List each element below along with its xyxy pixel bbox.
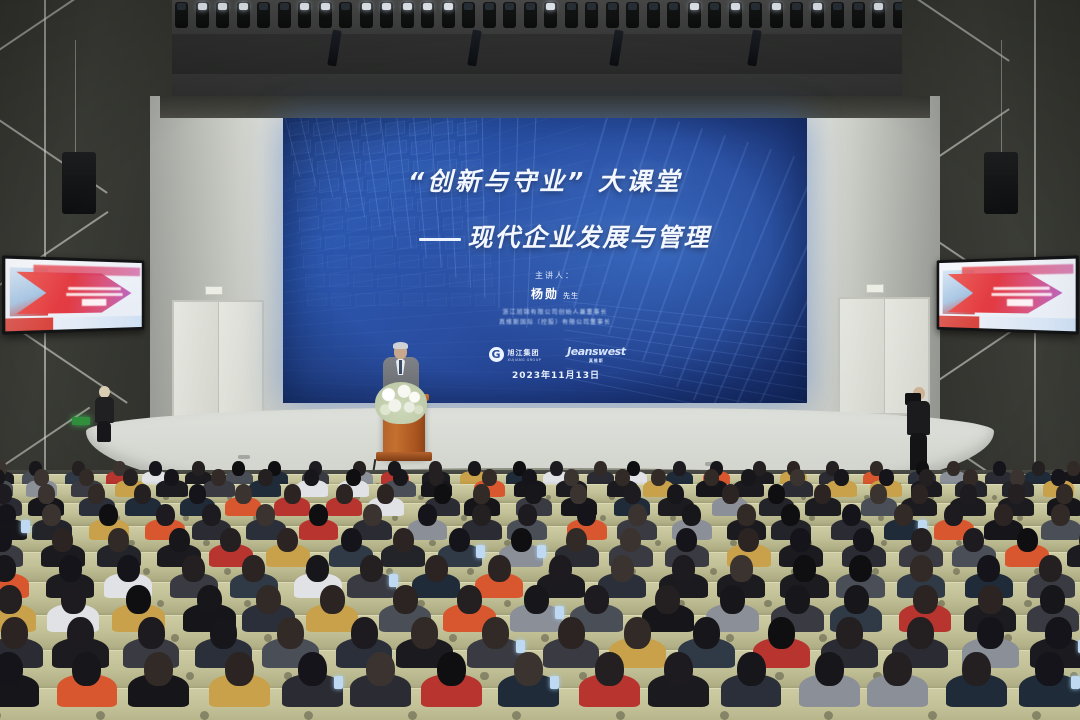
seat-notch [183, 515, 189, 521]
audience-member-head [393, 585, 418, 614]
floor-vent [238, 455, 250, 459]
stage-spotlight-icon [790, 2, 803, 28]
stage-spotlight-icon [421, 2, 434, 28]
audience-member-head [434, 484, 451, 504]
door-leaf [174, 302, 218, 416]
audience-member-head [911, 484, 928, 504]
seat-notch [96, 711, 105, 720]
audience-member-head [235, 484, 252, 504]
audience-member-head [907, 617, 934, 649]
audience-member-head [346, 469, 361, 486]
smartphone-screen [550, 676, 559, 689]
stage-spotlight-icon [257, 2, 270, 28]
audience-member-head [853, 528, 874, 553]
audience-member-head [913, 585, 938, 614]
audience-member-head [336, 484, 353, 504]
seat-notch [467, 568, 474, 575]
door-sign-left [205, 286, 223, 295]
audience-member-head [836, 617, 863, 649]
seat-notch [1024, 600, 1032, 608]
audience-member-head [38, 484, 55, 504]
jeanswest-logo-cn: 真维斯 [567, 358, 625, 364]
audience-member-head [488, 555, 511, 582]
audience-member-head [815, 652, 844, 686]
audience-area [0, 470, 1080, 720]
seat-notch [171, 634, 179, 642]
seat-notch [304, 711, 313, 720]
audience-member-head [61, 585, 86, 614]
slide-date: 2023年11月13日 [283, 368, 807, 381]
audience-member-head [457, 585, 482, 614]
seat-notch [200, 711, 209, 720]
operator-body [907, 401, 930, 435]
stage-spotlight-icon [626, 2, 639, 28]
stage-spotlight-icon [811, 2, 824, 28]
audience-member-head [628, 504, 647, 526]
jeanswest-logo: Jeanswest真维斯 [567, 345, 625, 364]
lighting-truss [128, 0, 964, 34]
slide-subtitle: 现代企业发展与管理 [283, 218, 807, 254]
audience-member-head [304, 469, 319, 486]
audience-member-head [182, 555, 205, 582]
audience-member-head [910, 555, 933, 582]
wall-line [884, 0, 1009, 62]
audience-member-head [1, 617, 28, 649]
audience-member-head [1056, 484, 1073, 504]
audience-member-head [256, 585, 281, 614]
audience-member-head [676, 528, 697, 553]
audience-member-head [944, 504, 963, 526]
seat-notch [824, 711, 833, 720]
audience-member-head [164, 469, 179, 486]
stage-spotlight-icon [565, 2, 578, 28]
audience-member-head [672, 555, 695, 582]
audience-member-head [849, 555, 872, 582]
monitor-glare [939, 259, 1075, 332]
speaker-name-text: 杨勋 [531, 287, 559, 301]
stage-spotlight-icon [524, 2, 537, 28]
xujiang-logo-cn: 旭江集团 [508, 349, 540, 357]
seat-notch [143, 568, 150, 575]
audience-member-head [883, 652, 912, 686]
speaker-org: 浙江旭锦有限公司创始人兼董事长 真维斯国际（控股）有限公司董事长 [303, 308, 807, 328]
wall-line-vertical [1034, 0, 1036, 500]
audience-member-head [192, 461, 205, 476]
stage-spotlight-icon [770, 2, 783, 28]
seat-notch [480, 672, 489, 681]
audience-member-head [781, 504, 800, 526]
audience-member-head [0, 504, 16, 526]
stage-spotlight-icon [688, 2, 701, 28]
stage-spotlight-icon [667, 2, 680, 28]
led-presentation-screen: “创新与守业” 大课堂 现代企业发展与管理 主讲人： 杨勋先生 浙江旭锦有限公司… [283, 118, 807, 403]
stage-spotlight-icon [872, 2, 885, 28]
audience-member-head [1032, 461, 1045, 476]
stage-spotlight-icon [360, 2, 373, 28]
audience-member-head [1017, 528, 1038, 553]
audience-member-head [393, 528, 414, 553]
audience-member-head [737, 504, 756, 526]
audience-member-head [911, 528, 932, 553]
seat-notch [600, 515, 606, 521]
audience-member-head [722, 484, 739, 504]
stage-spotlight-icon [380, 2, 393, 28]
audience-member-head [682, 504, 701, 526]
stage-spotlight-icon [339, 2, 352, 28]
stage-spotlight-icon [196, 2, 209, 28]
audience-member-head [225, 652, 254, 686]
audience-member-head [844, 585, 869, 614]
left-side-monitor [2, 255, 144, 334]
stage-spotlight-icon [298, 2, 311, 28]
stage-spotlight-icon [503, 2, 516, 28]
xujiang-logo-mark: G [489, 347, 504, 362]
smartphone-screen [21, 520, 30, 533]
audience-member-head [220, 528, 241, 553]
audience-member-head [594, 461, 607, 476]
audience-member-head [790, 528, 811, 553]
camera-operator-right [905, 385, 933, 473]
audience-member-head [0, 585, 22, 614]
audience-member-head [667, 484, 684, 504]
stage-spotlight-icon [585, 2, 598, 28]
stage-spotlight-icon [483, 2, 496, 28]
smartphone-screen [537, 545, 546, 558]
speaker-org-line-2: 真维斯国际（控股）有限公司董事长 [303, 318, 807, 328]
audience-member-head [570, 484, 587, 504]
stage-spotlight-icon [729, 2, 742, 28]
audience-member-head [947, 461, 960, 476]
speaker-name-suffix: 先生 [563, 292, 579, 300]
audience-member-head [232, 461, 245, 476]
stage-spotlight-icon [647, 2, 660, 28]
seat-notch [408, 711, 417, 720]
seat-notch [392, 515, 398, 521]
audience-member-head [52, 528, 73, 553]
audience-member-head [126, 585, 151, 614]
seat-notch [881, 540, 888, 547]
audience-member-head [123, 469, 138, 486]
stage-door-left[interactable] [172, 300, 264, 418]
audience-member-head [584, 585, 609, 614]
audience-member-head [977, 617, 1004, 649]
stage-spotlight-icon [831, 2, 844, 28]
audience-member-head [320, 585, 345, 614]
audience-member-head [256, 504, 275, 526]
seat-notch [512, 711, 521, 720]
audience-member-head [624, 617, 651, 649]
audience-member-head [720, 585, 745, 614]
auditorium-photo: “创新与守业” 大课堂 现代企业发展与管理 主讲人： 杨勋先生 浙江旭锦有限公司… [0, 0, 1080, 720]
audience-member-head [738, 528, 759, 553]
audience-member-head [524, 585, 549, 614]
audience-member-head [67, 617, 94, 649]
seat-notch [157, 600, 165, 608]
monitor-glare [5, 259, 141, 332]
audience-member-head [144, 652, 173, 686]
audience-member-head [977, 555, 1000, 582]
audience-member-head [298, 652, 327, 686]
audience-member-head [425, 555, 448, 582]
seat-notch [764, 600, 772, 608]
slide-logo-row: G旭江集团XUJIANG GROUPJeanswest真维斯 [283, 344, 807, 364]
audience-member-head [411, 617, 438, 649]
exit-sign-icon [72, 417, 90, 425]
audience-member-head [620, 528, 641, 553]
standing-attendee-left [93, 386, 115, 442]
attendee-legs [97, 421, 111, 442]
seat-notch [819, 634, 827, 642]
audience-member-head [393, 469, 408, 486]
audience-member-head [472, 504, 491, 526]
audience-member-head [79, 469, 94, 486]
audience-member-head [0, 555, 16, 582]
audience-member-head [741, 469, 756, 486]
audience-member-head [1039, 555, 1062, 582]
audience-member-head [558, 617, 585, 649]
jeanswest-logo-en: Jeanswest [567, 345, 625, 358]
audience-member-head [277, 617, 304, 649]
speaker-wire-left [75, 40, 76, 158]
stage-spotlight-icon [401, 2, 414, 28]
audience-member-head [59, 555, 82, 582]
seat-notch [203, 540, 210, 547]
audience-member-head [704, 469, 719, 486]
stage-spotlight-icon [175, 2, 188, 28]
audience-member-head [42, 504, 61, 526]
audience-member-head [258, 469, 273, 486]
audience-member-head [1035, 652, 1064, 686]
audience-member-head [566, 528, 587, 553]
seat-notch [224, 568, 231, 575]
stage-spotlight-icon [278, 2, 291, 28]
seat-notch [616, 711, 625, 720]
seat-notch [775, 672, 784, 681]
stage-spotlight-icon [442, 2, 455, 28]
audience-member-head [99, 504, 118, 526]
audience-member-head [169, 528, 190, 553]
seat-notch [449, 634, 457, 642]
audience-member-head [549, 555, 572, 582]
slide-title: “创新与守业” 大课堂 [283, 162, 807, 198]
wall-line [0, 0, 108, 62]
door-sign-right [866, 284, 884, 293]
audience-member-head [737, 652, 766, 686]
smartphone-screen [334, 676, 343, 689]
podium-base [376, 452, 432, 461]
speaker-hair [393, 342, 408, 349]
audience-member-head [894, 504, 913, 526]
seat-notch [429, 540, 436, 547]
audience-member-head [785, 585, 810, 614]
audience-member-head [615, 469, 630, 486]
audience-member-head [793, 555, 816, 582]
audience-member-head [473, 484, 490, 504]
speaker-role-label: 主讲人： [303, 270, 807, 281]
audience-member-head [108, 528, 129, 553]
audience-member-head [418, 504, 437, 526]
xujiang-logo-text: 旭江集团XUJIANG GROUP [508, 348, 542, 362]
audience-member-head [156, 504, 175, 526]
audience-member-head [437, 652, 466, 686]
audience-member-head [768, 617, 795, 649]
seat-notch [992, 495, 998, 501]
audience-member-head [960, 484, 977, 504]
audience-member-head [211, 469, 226, 486]
smartphone-screen [516, 640, 525, 653]
audience-member-head [624, 484, 641, 504]
door-leaf [840, 299, 884, 413]
seat-notch [186, 672, 195, 681]
stage-spotlight-icon [606, 2, 619, 28]
audience-member-head [197, 585, 222, 614]
subtitle-dash [419, 238, 461, 241]
hanging-speaker-right [984, 152, 1018, 214]
seat-notch [953, 568, 960, 575]
audience-member-head [525, 484, 542, 504]
stage-spotlight-icon [319, 2, 332, 28]
audience-member-head [351, 617, 378, 649]
audience-member-head [518, 504, 537, 526]
audience-member-head [978, 585, 1003, 614]
seat-notch [655, 540, 662, 547]
audience-member-head [341, 528, 362, 553]
seat-notch [1032, 711, 1041, 720]
audience-member-head [202, 504, 221, 526]
audience-member-head [655, 585, 680, 614]
audience-member-head [790, 469, 805, 486]
audience-member-head [870, 484, 887, 504]
smartphone-screen [476, 545, 485, 558]
audience-member-head [664, 652, 693, 686]
audience-member-head [651, 469, 666, 486]
seat-notch [0, 711, 1, 720]
slide-speaker-block: 主讲人： 杨勋先生 浙江旭锦有限公司创始人兼董事长 真维斯国际（控股）有限公司董… [283, 270, 807, 328]
audience-member-head [595, 652, 624, 686]
audience-member-head [577, 504, 596, 526]
audience-member-head [468, 461, 481, 476]
speaker-wire-right [1001, 40, 1002, 158]
audience-member-head [834, 469, 849, 486]
audience-member-head [377, 484, 394, 504]
audience-member-head [842, 504, 861, 526]
audience-member-head [0, 652, 23, 686]
audience-member-head [449, 528, 470, 553]
audience-member-head [277, 528, 298, 553]
audience-member-head [363, 504, 382, 526]
ceiling-soffit [130, 28, 960, 80]
audience-member-head [730, 555, 753, 582]
audience-member-head [514, 652, 543, 686]
seat-notch [928, 711, 937, 720]
audience-member-head [550, 461, 563, 476]
xujiang-logo-en: XUJIANG GROUP [508, 358, 542, 362]
speaker-org-line-1: 浙江旭锦有限公司创始人兼董事长 [303, 308, 807, 318]
audience-member-head [284, 484, 301, 504]
audience-member-head [210, 617, 237, 649]
audience-member-head [962, 652, 991, 686]
audience-member-head [1008, 484, 1025, 504]
audience-member-head [88, 484, 105, 504]
audience-member-head [611, 555, 634, 582]
stage-spotlight-icon [852, 2, 865, 28]
seat-notch [878, 515, 884, 521]
audience-member-head [693, 617, 720, 649]
audience-member-head [138, 617, 165, 649]
flower-arrangement [375, 382, 427, 424]
right-side-monitor [937, 255, 1079, 334]
speaker-name: 杨勋先生 [303, 285, 807, 302]
audience-member-head [366, 652, 395, 686]
door-leaf [218, 302, 262, 416]
seat-notch [720, 711, 729, 720]
stage-spotlight-icon [216, 2, 229, 28]
audience-member-head [306, 555, 329, 582]
audience-member-head [1051, 504, 1070, 526]
seat-notch [541, 634, 549, 642]
audience-member-head [189, 484, 206, 504]
audience-member-head [242, 555, 265, 582]
audience-member-head [768, 484, 785, 504]
smartphone-screen [555, 606, 564, 619]
stage-spotlight-icon [462, 2, 475, 28]
audience-member-head [993, 461, 1006, 476]
audience-member-head [117, 555, 140, 582]
seat-notch [710, 568, 717, 575]
stage-spotlight-icon [237, 2, 250, 28]
stage-valance [160, 96, 930, 118]
audience-member-head [360, 555, 383, 582]
stage-spotlight-icon [708, 2, 721, 28]
stage-spotlight-icon [749, 2, 762, 28]
audience-member-head [994, 504, 1013, 526]
wall-line-vertical [44, 0, 46, 500]
seat-notch [504, 600, 512, 608]
speaker-tie [399, 360, 402, 374]
audience-member-head [673, 461, 686, 476]
hanging-speaker-left [62, 152, 96, 214]
seat-notch [670, 515, 676, 521]
seat-notch [461, 515, 467, 521]
audience-member-head [963, 528, 984, 553]
audience-member-head [72, 652, 101, 686]
attendee-body [95, 397, 114, 423]
seat-notch [1017, 515, 1023, 521]
audience-member-head [1040, 585, 1065, 614]
slide-subtitle-text: 现代企业发展与管理 [467, 223, 710, 252]
audience-member-head [1045, 617, 1072, 649]
audience-member-head [134, 484, 151, 504]
audience-member-head [482, 617, 509, 649]
smartphone-screen [389, 574, 398, 587]
smartphone-screen [1071, 676, 1080, 689]
audience-member-head [814, 484, 831, 504]
seat-notch [809, 515, 815, 521]
audience-member-head [511, 528, 532, 553]
stage-spotlight-icon [544, 2, 557, 28]
audience-member-head [149, 461, 162, 476]
audience-member-head [309, 504, 328, 526]
audience-member-head [1067, 461, 1080, 476]
